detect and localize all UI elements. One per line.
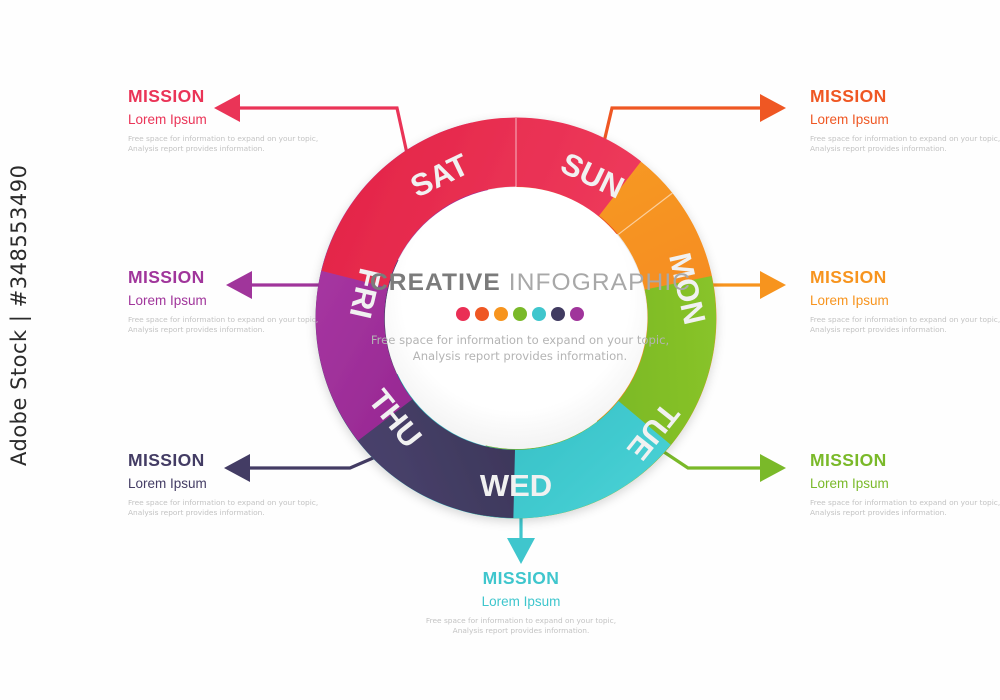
mission-thu-subtitle: Lorem Ipsum [128,474,328,493]
mission-mon-title: MISSION [810,267,1000,287]
mission-thu-desc-line2: Analysis report provides information. [128,508,328,518]
mission-mon-subtitle: Lorem Ipsum [810,291,1000,310]
mission-wed-title: MISSION [416,568,626,588]
mission-thu-title: MISSION [128,450,328,470]
mission-fri-description: Free space for information to expand on … [128,315,328,335]
mission-sun-desc-line2: Analysis report provides information. [810,144,1000,154]
mission-wed[interactable]: MISSION Lorem Ipsum Free space for infor… [416,568,626,636]
mission-sun-title: MISSION [810,86,1000,106]
mission-sat-desc-line1: Free space for information to expand on … [128,134,328,144]
mission-tue-subtitle: Lorem Ipsum [810,474,1000,493]
mission-wed-description: Free space for information to expand on … [416,616,626,636]
mission-tue[interactable]: MISSION Lorem Ipsum Free space for infor… [810,450,1000,518]
mission-tue-description: Free space for information to expand on … [810,498,1000,518]
mission-fri[interactable]: MISSION Lorem Ipsum Free space for infor… [128,267,328,335]
mission-mon-description: Free space for information to expand on … [810,315,1000,335]
infographic-canvas: Adobe Stock | #348553490 [0,0,1000,700]
mission-fri-desc-line2: Analysis report provides information. [128,325,328,335]
mission-mon[interactable]: MISSION Lorem Ipsum Free space for infor… [810,267,1000,335]
mission-thu-description: Free space for information to expand on … [128,498,328,518]
mission-sun[interactable]: MISSION Lorem Ipsum Free space for infor… [810,86,1000,154]
mission-sat-desc-line2: Analysis report provides information. [128,144,328,154]
mission-sat[interactable]: MISSION Lorem Ipsum Free space for infor… [128,86,328,154]
mission-thu-desc-line1: Free space for information to expand on … [128,498,328,508]
mission-mon-desc-line2: Analysis report provides information. [810,325,1000,335]
mission-fri-subtitle: Lorem Ipsum [128,291,328,310]
mission-tue-desc-line1: Free space for information to expand on … [810,498,1000,508]
mission-mon-desc-line1: Free space for information to expand on … [810,315,1000,325]
mission-tue-desc-line2: Analysis report provides information. [810,508,1000,518]
mission-fri-desc-line1: Free space for information to expand on … [128,315,328,325]
mission-sun-desc-line1: Free space for information to expand on … [810,134,1000,144]
mission-wed-desc-line1: Free space for information to expand on … [416,616,626,626]
mission-wed-subtitle: Lorem Ipsum [416,592,626,611]
mission-thu[interactable]: MISSION Lorem Ipsum Free space for infor… [128,450,328,518]
connector-tue [652,444,786,482]
mission-sat-description: Free space for information to expand on … [128,134,328,154]
mission-wed-desc-line2: Analysis report provides information. [416,626,626,636]
mission-sat-title: MISSION [128,86,328,106]
mission-sat-subtitle: Lorem Ipsum [128,110,328,129]
mission-sun-description: Free space for information to expand on … [810,134,1000,154]
mission-fri-title: MISSION [128,267,328,287]
mission-tue-title: MISSION [810,450,1000,470]
mission-sun-subtitle: Lorem Ipsum [810,110,1000,129]
ring-inner-disc [385,187,647,449]
